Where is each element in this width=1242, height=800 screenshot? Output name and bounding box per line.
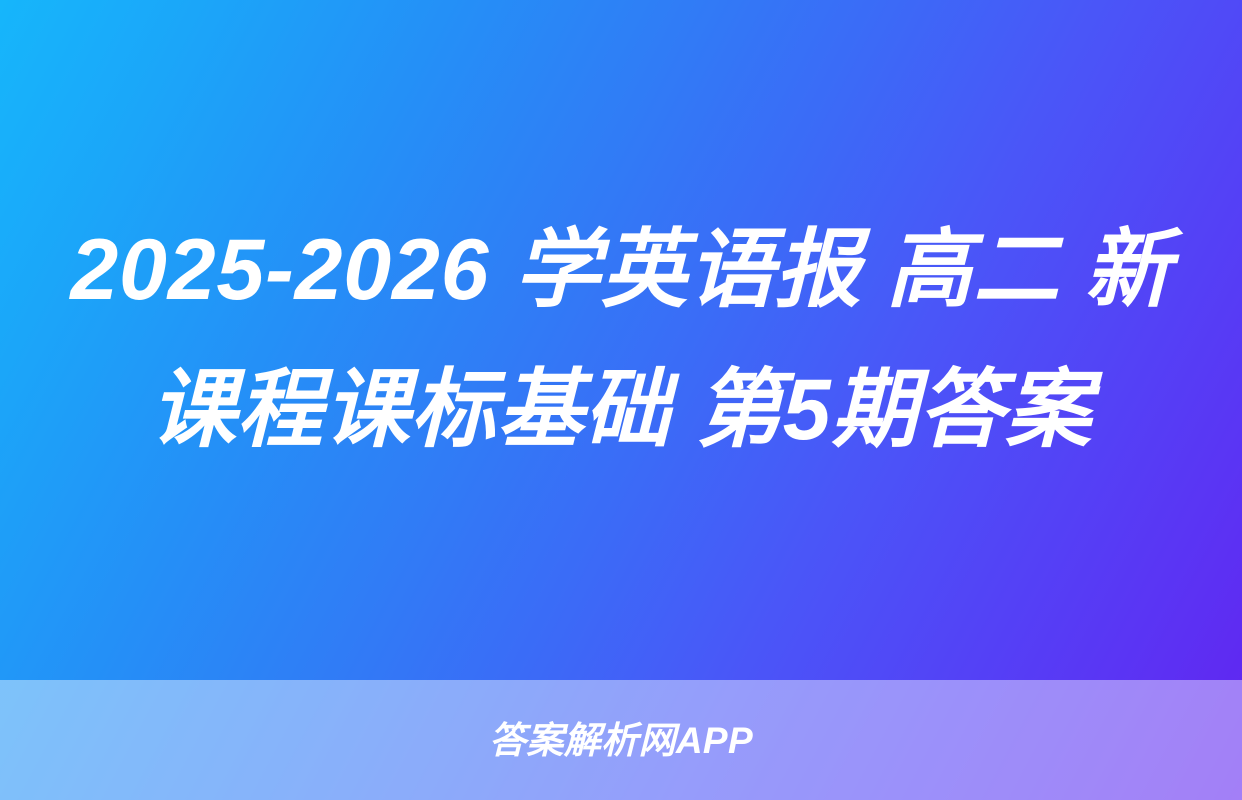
- watermark-bar: 答案解析网APP: [0, 680, 1242, 800]
- cover-card: 2025-2026 学英语报 高二 新课程课标基础 第5期答案 答案解析网APP: [0, 0, 1242, 800]
- page-title: 2025-2026 学英语报 高二 新课程课标基础 第5期答案: [52, 200, 1190, 480]
- title-area: 2025-2026 学英语报 高二 新课程课标基础 第5期答案: [0, 0, 1242, 680]
- watermark-label: 答案解析网APP: [489, 722, 753, 759]
